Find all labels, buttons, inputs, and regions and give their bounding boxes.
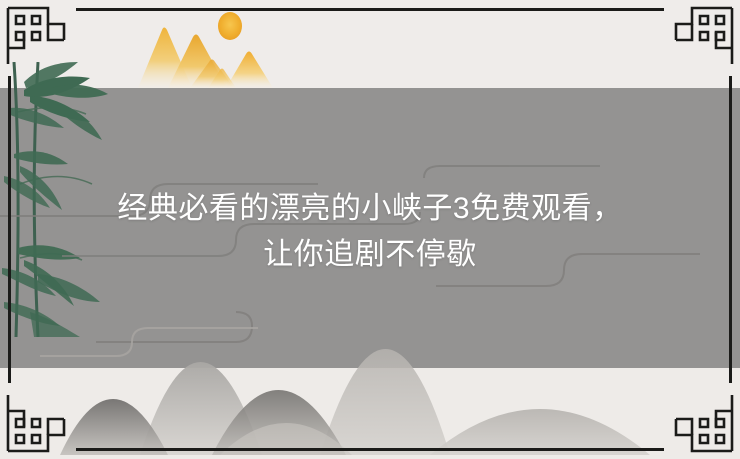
chinese-fret-corner-icon-bottom-right [666,385,738,457]
sun-and-mountains-icon [130,4,320,90]
chinese-fret-corner-icon-top-left [2,2,74,74]
chinese-fret-corner-icon-bottom-left [2,385,74,457]
poster-headline: 经典必看的漂亮的小峡子3免费观看， 让你追剧不停歇 [0,186,740,278]
poster-canvas: 经典必看的漂亮的小峡子3免费观看， 让你追剧不停歇 [0,0,740,459]
frame-border-bottom [76,448,664,451]
chinese-fret-corner-icon-top-right [666,2,738,74]
frame-border-top [76,8,664,11]
